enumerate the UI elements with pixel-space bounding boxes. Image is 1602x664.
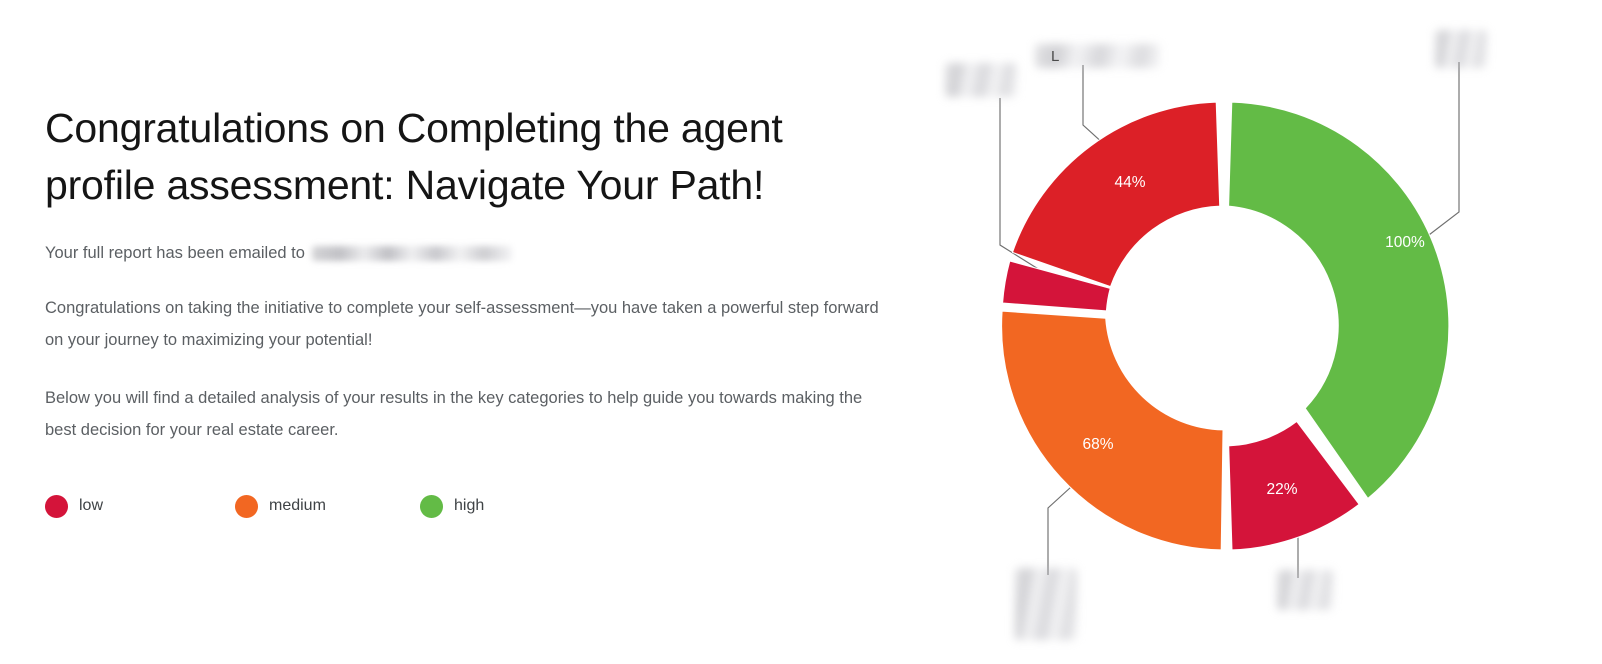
donut-segment-medium[interactable] [1002,311,1223,550]
slice-label-low-bottom: 22% [1266,481,1297,498]
email-confirmation-line: Your full report has been emailed to [45,241,895,266]
donut-chart: 100% 22% 68% 44% [905,0,1602,664]
legend-item-low[interactable]: low [45,495,235,518]
legend-label-high: high [454,497,484,515]
legend-label-medium: medium [269,497,326,515]
legend-item-medium[interactable]: medium [235,495,420,518]
congratulations-paragraph: Congratulations on taking the initiative… [45,293,885,356]
analysis-intro-paragraph: Below you will find a detailed analysis … [45,383,885,446]
redacted-callout-label-bottom-left [1015,568,1077,640]
page-title: Congratulations on Completing the agent … [45,100,885,213]
donut-segments [1002,102,1449,550]
leader-line-top-right [1425,62,1459,238]
legend-dot-medium-icon [235,495,258,518]
slice-label-medium: 68% [1082,436,1113,453]
redacted-callout-label-bottom-right [1277,570,1333,610]
redacted-callout-label-top-left [945,63,1017,97]
slice-label-low-top: 44% [1114,174,1145,191]
callout-label-top-middle-initial: L [1051,48,1059,65]
chart-legend: low medium high [45,495,895,518]
legend-label-low: low [79,497,103,515]
assessment-results-page: Congratulations on Completing the agent … [0,0,1602,664]
legend-dot-low-icon [45,495,68,518]
donut-segment-high[interactable] [1229,102,1449,498]
donut-segment-low-top[interactable] [1013,102,1220,287]
legend-dot-high-icon [420,495,443,518]
redacted-email-address [312,246,512,261]
slice-label-high: 100% [1385,234,1425,251]
donut-chart-container: 100% 22% 68% 44% L [905,0,1602,664]
redacted-callout-label-top-right [1435,30,1487,68]
legend-item-high[interactable]: high [420,495,484,518]
results-text-column: Congratulations on Completing the agent … [45,100,895,518]
email-confirmation-prefix: Your full report has been emailed to [45,241,305,266]
